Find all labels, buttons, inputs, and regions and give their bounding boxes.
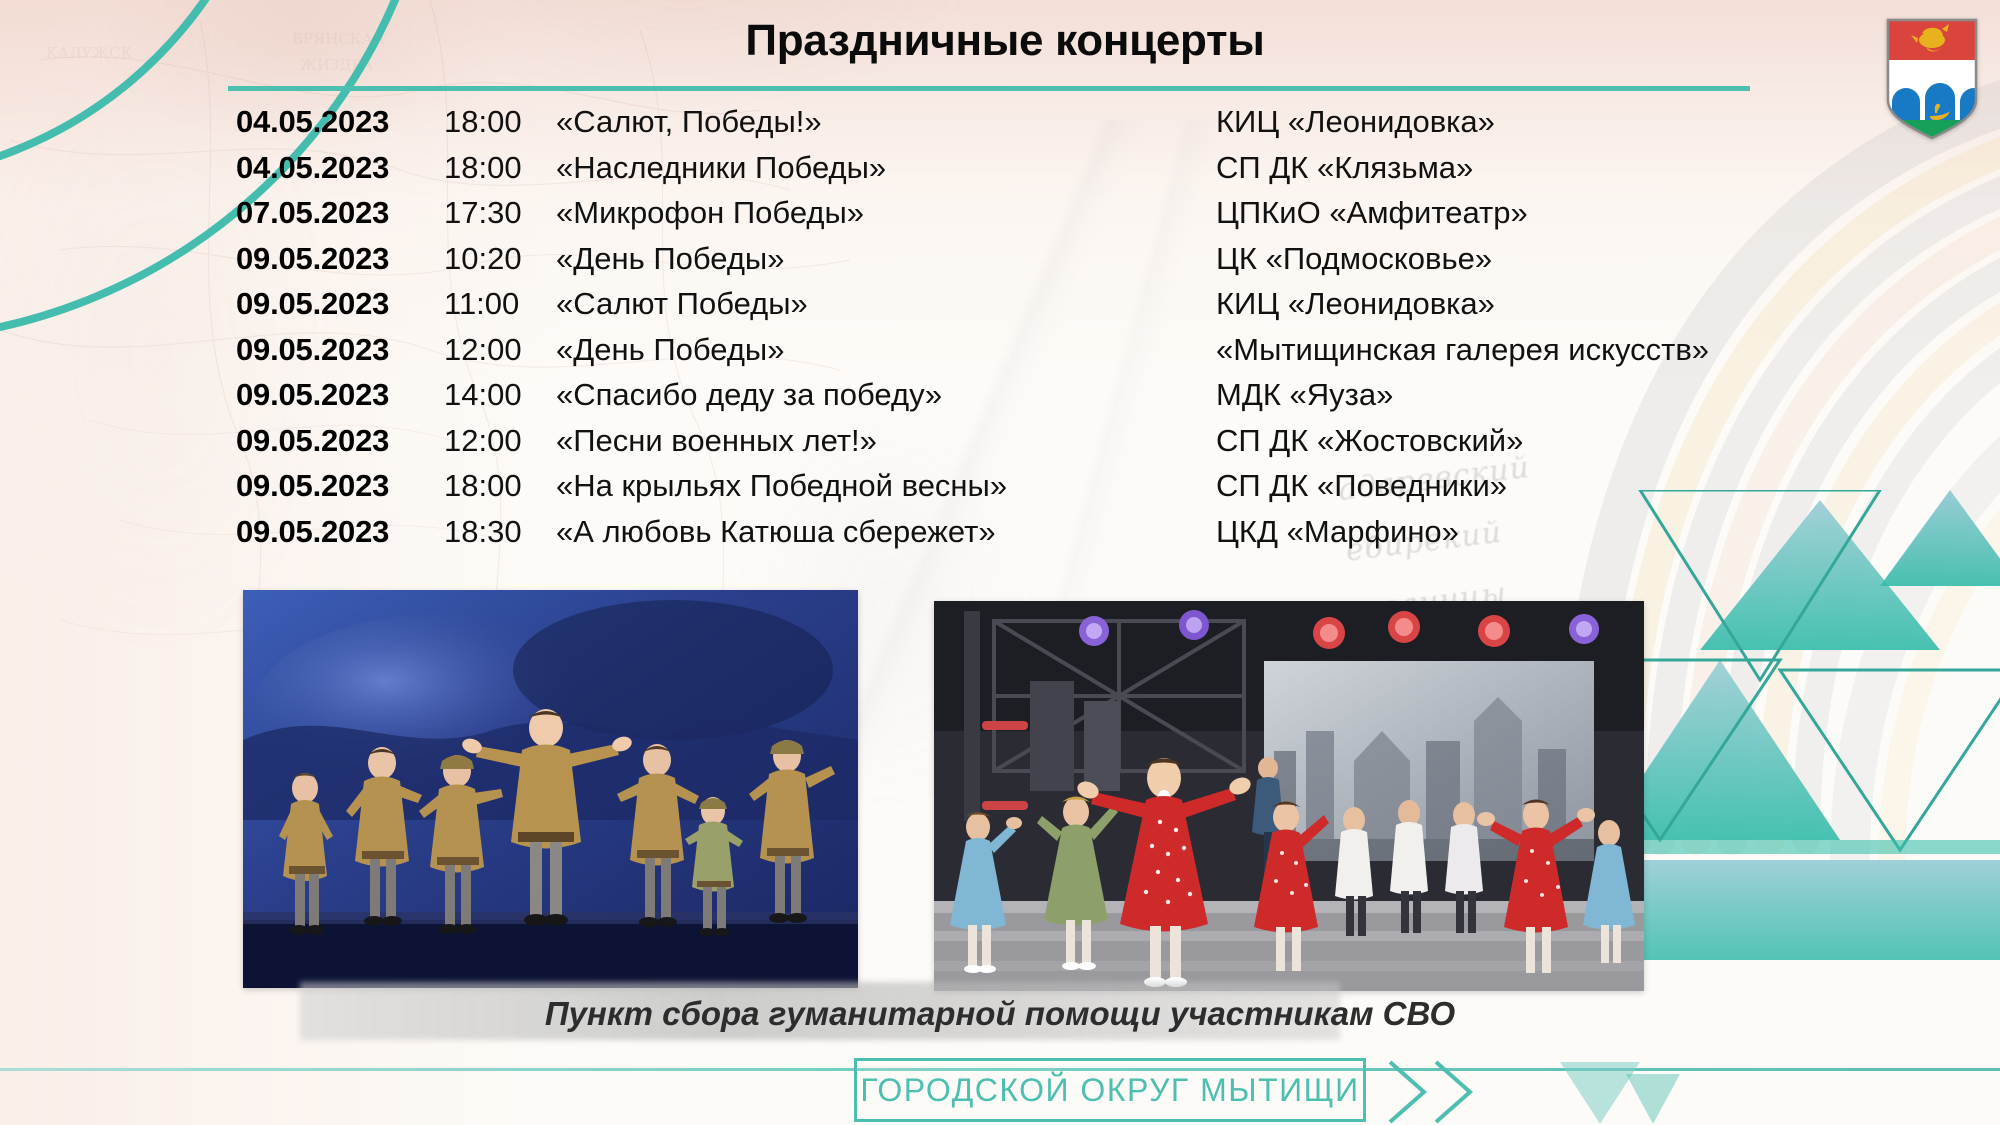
event-name: «Наследники Победы» [556, 150, 1216, 186]
event-venue: СП ДК «Клязьма» [1216, 150, 1796, 186]
concert-schedule-list: 04.05.2023 18:00 «Салют, Победы!» КИЦ «Л… [236, 104, 1796, 559]
event-name: «Микрофон Победы» [556, 195, 1216, 231]
event-venue: КИЦ «Леонидовка» [1216, 286, 1796, 322]
footer-chevron-decoration [1380, 1058, 1680, 1124]
event-venue: ЦПКиО «Амфитеатр» [1216, 195, 1796, 231]
event-date: 09.05.2023 [236, 286, 444, 322]
event-venue: ЦКД «Марфино» [1216, 514, 1796, 550]
event-name: «День Победы» [556, 241, 1216, 277]
municipality-badge-label: ГОРОДСКОЙ ОКРУГ МЫТИЩИ [860, 1072, 1359, 1109]
event-venue: КИЦ «Леонидовка» [1216, 104, 1796, 140]
slide-canvas: КАЛУЖСК БРЯНСКАЯ ЖИЗДРА адаревский ебире… [0, 0, 2000, 1125]
schedule-row: 07.05.2023 17:30 «Микрофон Победы» ЦПКиО… [236, 195, 1796, 241]
event-name: «Салют, Победы!» [556, 104, 1216, 140]
event-venue: ЦК «Подмосковье» [1216, 241, 1796, 277]
schedule-row: 09.05.2023 10:20 «День Победы» ЦК «Подмо… [236, 241, 1796, 287]
schedule-row: 04.05.2023 18:00 «Салют, Победы!» КИЦ «Л… [236, 104, 1796, 150]
photo-right-content [934, 601, 1644, 991]
event-name: «Спасибо деду за победу» [556, 377, 1216, 413]
event-name: «На крыльях Победной весны» [556, 468, 1216, 504]
event-date: 09.05.2023 [236, 332, 444, 368]
photo-left-content [243, 590, 858, 988]
schedule-row: 09.05.2023 14:00 «Спасибо деду за победу… [236, 377, 1796, 423]
event-name: «Салют Победы» [556, 286, 1216, 322]
schedule-row: 09.05.2023 18:00 «На крыльях Победной ве… [236, 468, 1796, 514]
event-name: «Песни военных лет!» [556, 423, 1216, 459]
photo-dancers-stage-blue [243, 590, 858, 988]
event-time: 10:20 [444, 241, 556, 277]
event-date: 07.05.2023 [236, 195, 444, 231]
event-date: 09.05.2023 [236, 377, 444, 413]
schedule-row: 09.05.2023 18:30 «А любовь Катюша сбереж… [236, 514, 1796, 560]
event-time: 12:00 [444, 423, 556, 459]
title-divider-rule [228, 86, 1750, 91]
schedule-row: 04.05.2023 18:00 «Наследники Победы» СП … [236, 150, 1796, 196]
photo-dancers-outdoor-red [934, 601, 1644, 991]
event-venue: «Мытищинская галерея искусств» [1216, 332, 1796, 368]
event-date: 04.05.2023 [236, 150, 444, 186]
event-time: 11:00 [444, 286, 556, 322]
municipality-badge: ГОРОДСКОЙ ОКРУГ МЫТИЩИ [854, 1058, 1366, 1122]
event-name: «А любовь Катюша сбережет» [556, 514, 1216, 550]
event-time: 12:00 [444, 332, 556, 368]
event-time: 18:30 [444, 514, 556, 550]
coat-of-arms-icon [1886, 18, 1978, 140]
page-title: Праздничные концерты [0, 16, 2000, 66]
schedule-row: 09.05.2023 12:00 «День Победы» «Мытищинс… [236, 332, 1796, 378]
schedule-row: 09.05.2023 12:00 «Песни военных лет!» СП… [236, 423, 1796, 469]
event-time: 17:30 [444, 195, 556, 231]
event-time: 18:00 [444, 150, 556, 186]
event-name: «День Победы» [556, 332, 1216, 368]
event-date: 09.05.2023 [236, 468, 444, 504]
event-time: 18:00 [444, 104, 556, 140]
event-date: 09.05.2023 [236, 423, 444, 459]
event-date: 09.05.2023 [236, 241, 444, 277]
event-date: 04.05.2023 [236, 104, 444, 140]
event-time: 14:00 [444, 377, 556, 413]
schedule-row: 09.05.2023 11:00 «Салют Победы» КИЦ «Лео… [236, 286, 1796, 332]
humanitarian-aid-caption: Пункт сбора гуманитарной помощи участник… [0, 995, 2000, 1033]
event-venue: МДК «Яуза» [1216, 377, 1796, 413]
event-time: 18:00 [444, 468, 556, 504]
event-venue: СП ДК «Жостовский» [1216, 423, 1796, 459]
event-date: 09.05.2023 [236, 514, 444, 550]
event-venue: СП ДК «Поведники» [1216, 468, 1796, 504]
